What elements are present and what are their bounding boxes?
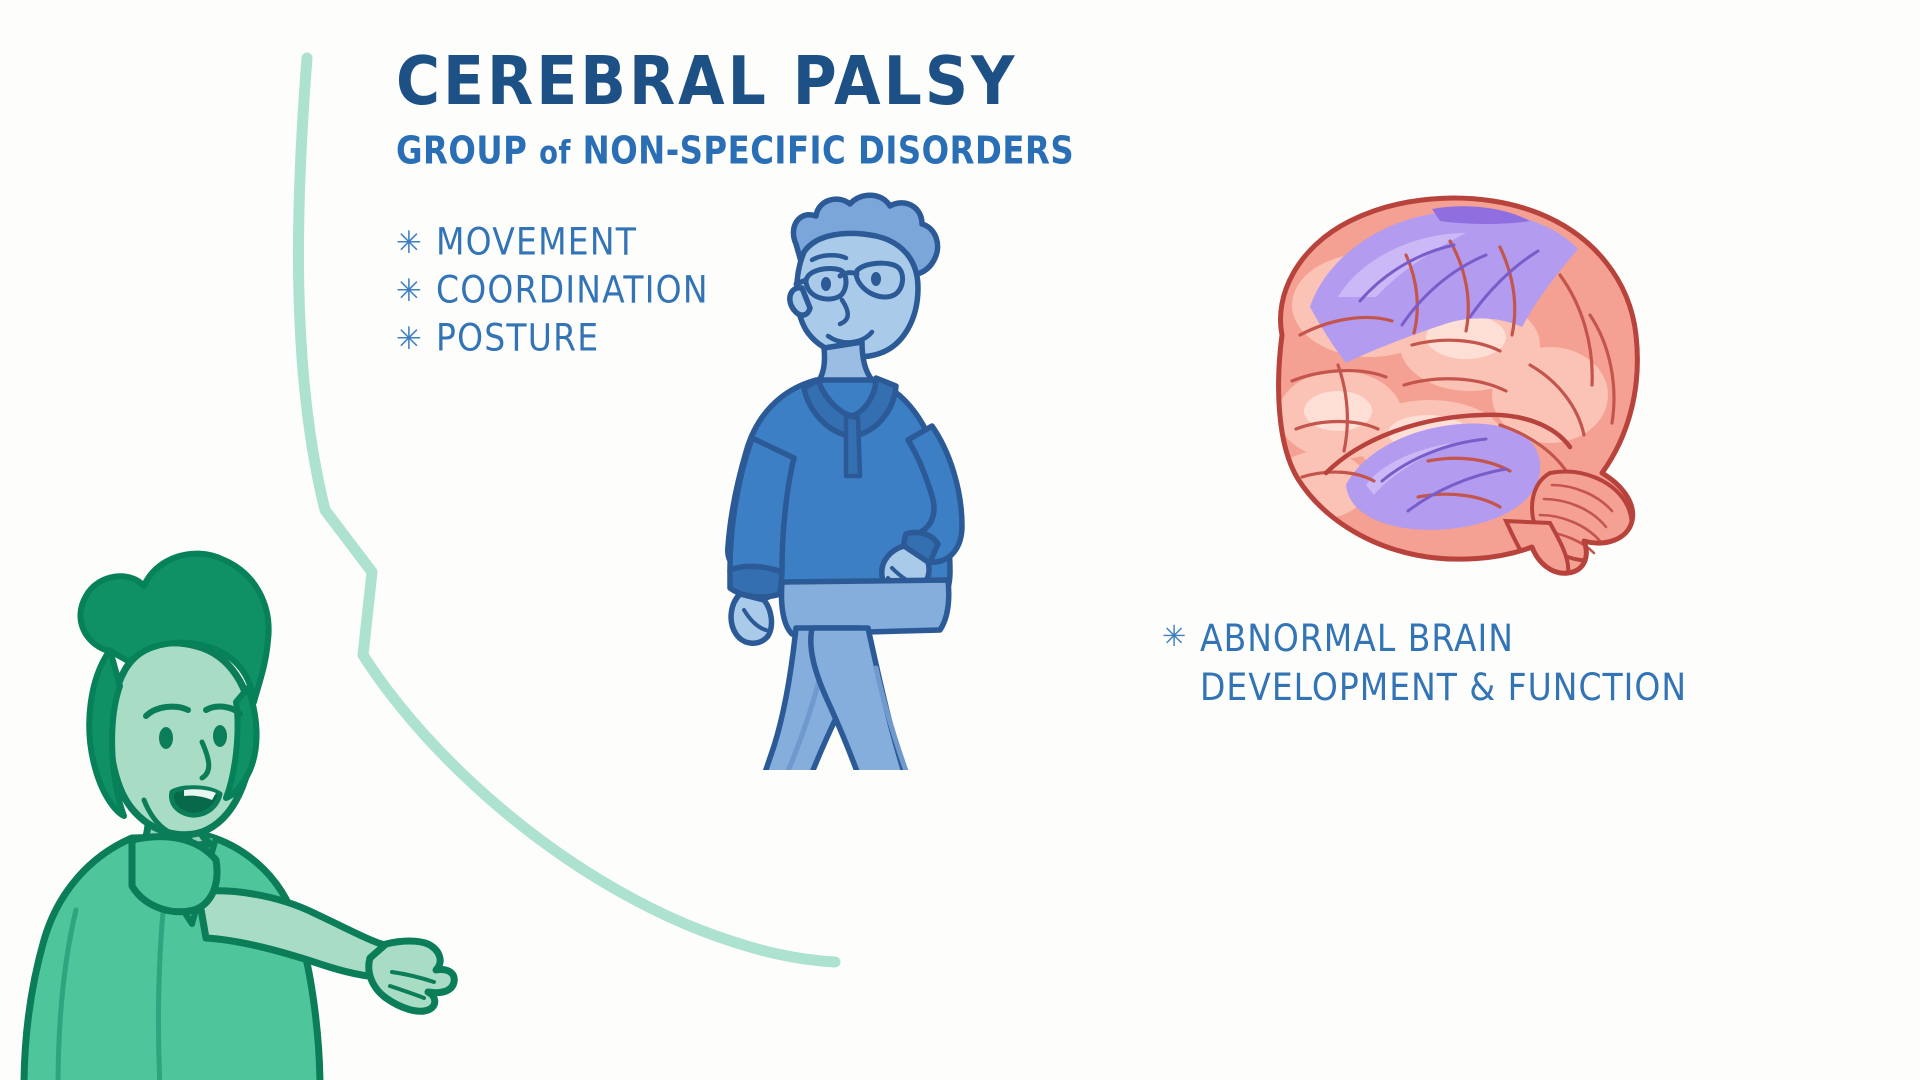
child-cuff-left (730, 566, 782, 597)
clinician-eye-left (159, 727, 173, 749)
asterisk-bullet-icon: ✳ (1162, 622, 1200, 651)
brain-caption-text: ABNORMAL BRAIN DEVELOPMENT & FUNCTION (1200, 614, 1687, 712)
brain-diagram (1170, 185, 1690, 605)
child-eye-left (821, 277, 831, 291)
brain-caption-line-2: DEVELOPMENT & FUNCTION (1200, 665, 1687, 709)
subtitle-lowercase-of: of (539, 134, 571, 172)
asterisk-bullet-icon: ✳ (396, 228, 436, 259)
list-item: ✳ POSTURE (396, 318, 709, 357)
symptom-label-posture: POSTURE (436, 316, 599, 360)
asterisk-bullet-icon: ✳ (396, 324, 436, 355)
child-figure (700, 190, 1040, 770)
clinician-sleeve (132, 837, 217, 912)
child-zipper (846, 416, 860, 476)
brain-caption: ✳ ABNORMAL BRAIN DEVELOPMENT & FUNCTION (1162, 614, 1687, 701)
clinician-eye-right (213, 725, 227, 747)
asterisk-bullet-icon: ✳ (396, 276, 436, 307)
child-eye-right (871, 272, 881, 286)
list-item: ✳ MOVEMENT (396, 222, 709, 261)
symptom-label-movement: MOVEMENT (436, 220, 637, 264)
brain-caption-line-1: ABNORMAL BRAIN (1200, 616, 1514, 660)
illustration-canvas: CEREBRAL PALSY GROUP of NON-SPECIFIC DIS… (0, 0, 1920, 1080)
subtitle-part-2: NON-SPECIFIC DISORDERS (571, 128, 1074, 173)
page-title: CEREBRAL PALSY (396, 48, 1156, 115)
title-block: CEREBRAL PALSY GROUP of NON-SPECIFIC DIS… (396, 48, 1156, 167)
list-item: ✳ COORDINATION (396, 270, 709, 309)
page-subtitle: GROUP of NON-SPECIFIC DISORDERS (396, 128, 1141, 173)
child-leg-right (811, 628, 924, 770)
clinician-figure (20, 520, 540, 1080)
symptom-list: ✳ MOVEMENT ✳ COORDINATION ✳ POSTURE (396, 222, 709, 366)
subtitle-part-1: GROUP (396, 128, 539, 173)
symptom-label-coordination: COORDINATION (436, 268, 709, 312)
